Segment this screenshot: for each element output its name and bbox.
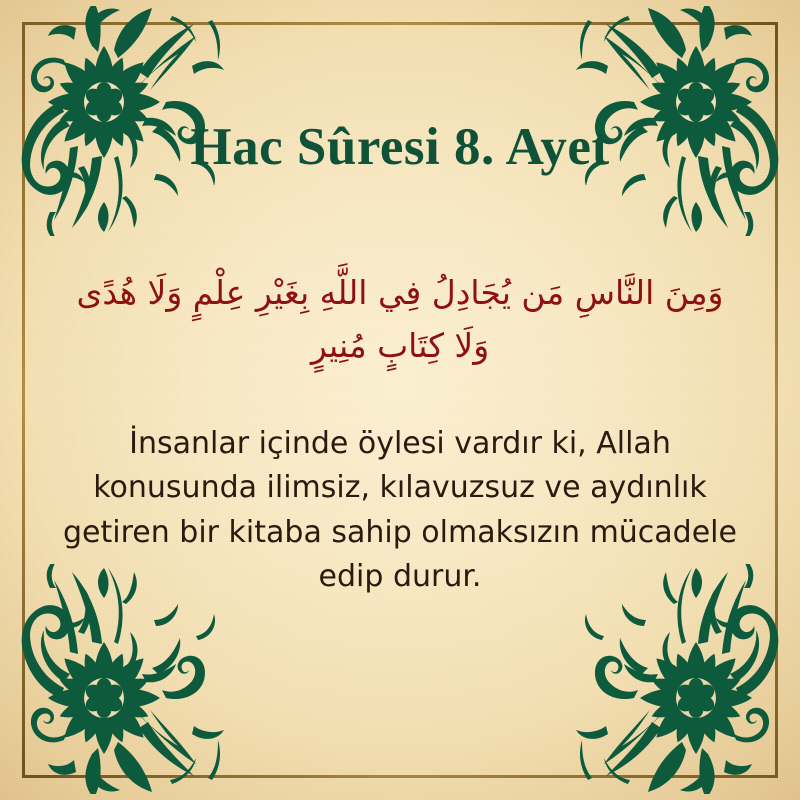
translation-line-2: konusunda ilimsiz, kılavuzsuz ve aydınlı… bbox=[48, 466, 752, 510]
turkish-translation-text: İnsanlar içinde öylesi vardır ki, Allah … bbox=[48, 422, 752, 600]
quran-verse-card: Hac Sûresi 8. Ayet وَمِنَ النَّاسِ مَن ي… bbox=[0, 0, 800, 800]
arabic-line-2: وَلَا كِتَابٍ مُنِيرٍ bbox=[44, 319, 756, 372]
arabic-line-1: وَمِنَ النَّاسِ مَن يُجَادِلُ فِي اللَّه… bbox=[44, 266, 756, 319]
arabic-verse-text: وَمِنَ النَّاسِ مَن يُجَادِلُ فِي اللَّه… bbox=[44, 266, 756, 373]
page-title: Hac Sûresi 8. Ayet bbox=[0, 118, 800, 176]
translation-line-3: getiren bir kitaba sahip olmaksızın müca… bbox=[48, 511, 752, 555]
card-content: Hac Sûresi 8. Ayet وَمِنَ النَّاسِ مَن ي… bbox=[0, 0, 800, 800]
translation-line-4: edip durur. bbox=[48, 555, 752, 599]
translation-line-1: İnsanlar içinde öylesi vardır ki, Allah bbox=[48, 422, 752, 466]
